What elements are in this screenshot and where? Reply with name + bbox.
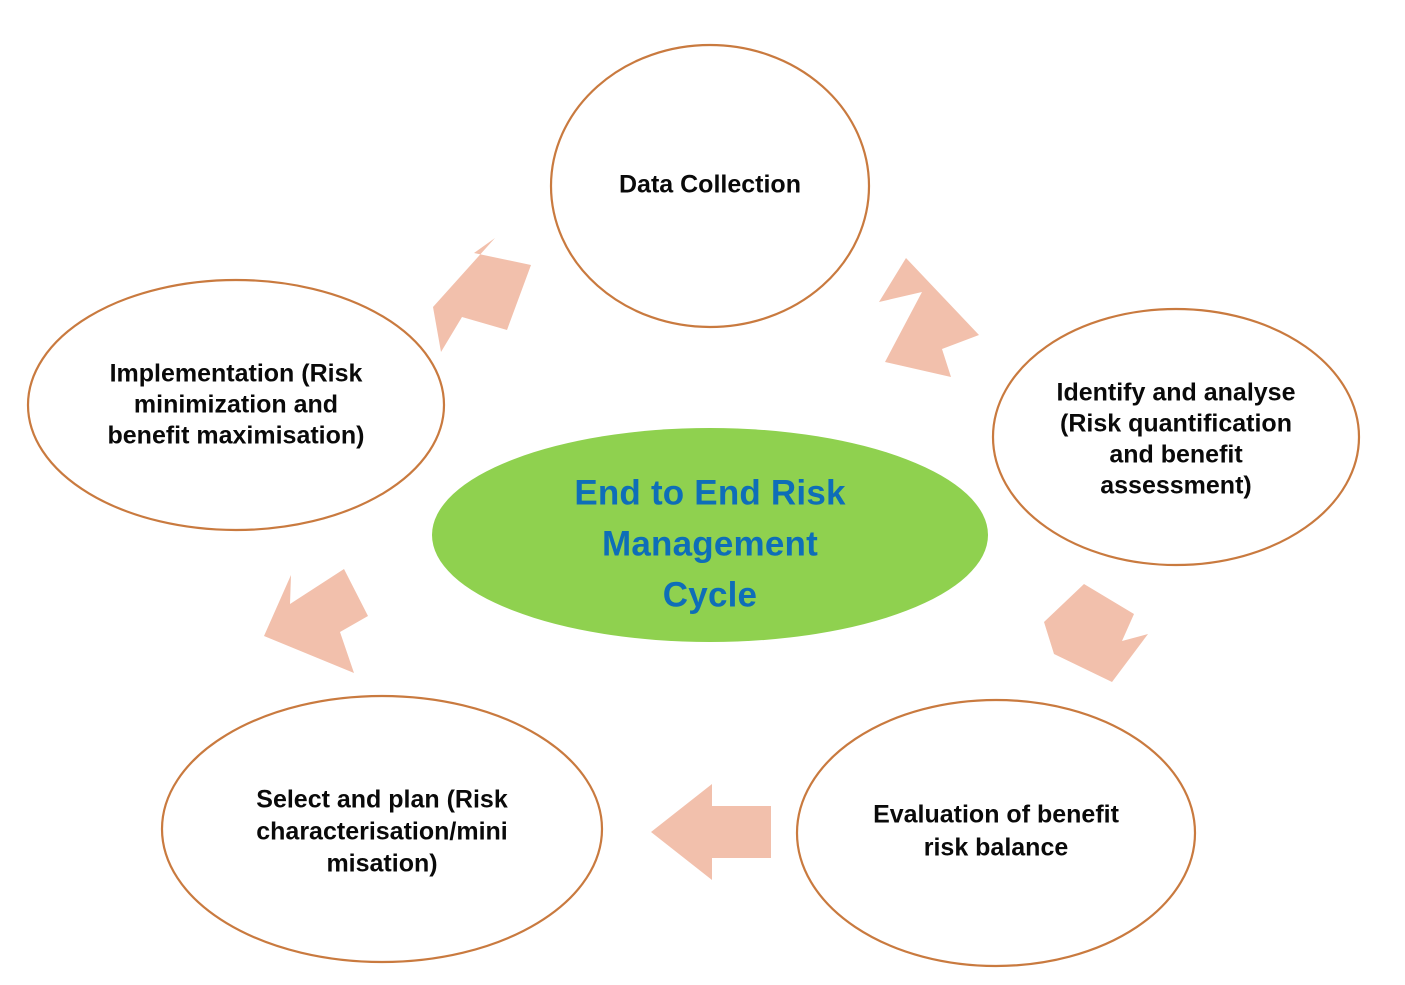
center-node-label-line2: Management	[602, 524, 818, 563]
end-to-end-risk-management-cycle-diagram: Data Collection Identify and analyse (Ri…	[0, 0, 1405, 985]
node-implementation-label-line2: minimization and	[134, 391, 338, 419]
node-implementation-label-line3: benefit maximisation)	[108, 422, 365, 450]
node-evaluation-of-benefit-risk-balance-label-line2: risk balance	[924, 834, 1069, 862]
node-select-and-plan-label-line3: misation)	[326, 850, 437, 878]
center-node-label-line3: Cycle	[663, 575, 757, 614]
center-node-label: End to End Risk	[574, 473, 846, 512]
node-identify-and-analyse-label-line4: assessment)	[1100, 472, 1251, 500]
arrow-implementation-to-data-collection	[433, 238, 531, 352]
node-identify-and-analyse-label-line3: and benefit	[1109, 441, 1243, 469]
arrow-evaluation-to-select-and-plan	[651, 784, 771, 880]
node-implementation-label: Implementation (Risk	[110, 360, 363, 388]
node-identify-and-analyse[interactable]: Identify and analyse (Risk quantificatio…	[993, 309, 1359, 565]
node-implementation[interactable]: Implementation (Risk minimization and be…	[28, 280, 444, 530]
diagram-canvas: Data Collection Identify and analyse (Ri…	[0, 0, 1405, 985]
node-select-and-plan-label-line2: characterisation/mini	[256, 818, 507, 846]
node-select-and-plan-label: Select and plan (Risk	[256, 786, 508, 814]
node-identify-and-analyse-label-line2: (Risk quantification	[1060, 410, 1292, 438]
node-evaluation-of-benefit-risk-balance[interactable]: Evaluation of benefit risk balance	[797, 700, 1195, 966]
arrow-select-and-plan-to-implementation	[264, 569, 368, 673]
center-node-end-to-end-risk-management-cycle[interactable]: End to End Risk Management Cycle	[432, 428, 988, 642]
node-select-and-plan[interactable]: Select and plan (Risk characterisation/m…	[162, 696, 602, 962]
arrow-data-collection-to-identify	[879, 258, 979, 377]
arrow-identify-to-evaluation	[1044, 584, 1148, 682]
node-identify-and-analyse-label: Identify and analyse	[1057, 379, 1296, 407]
node-data-collection[interactable]: Data Collection	[551, 45, 869, 327]
node-data-collection-label: Data Collection	[619, 171, 801, 199]
node-evaluation-of-benefit-risk-balance-label: Evaluation of benefit	[873, 801, 1120, 829]
